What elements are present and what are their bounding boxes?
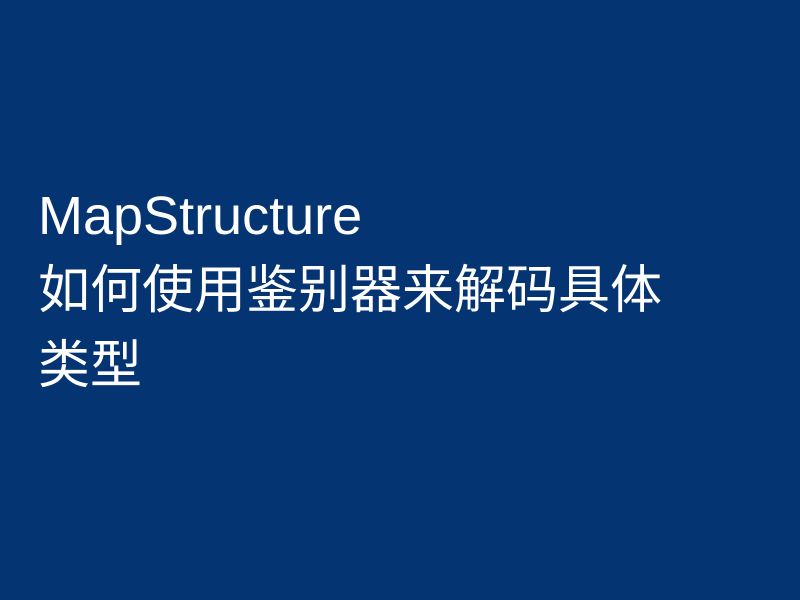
- page-title: MapStructure: [38, 179, 762, 254]
- cover-slide: MapStructure 如何使用鉴别器来解码具体 类型: [0, 0, 800, 600]
- page-subtitle-line-1: 如何使用鉴别器来解码具体: [38, 254, 762, 329]
- page-subtitle-line-2: 类型: [38, 329, 762, 404]
- title-block: MapStructure 如何使用鉴别器来解码具体 类型: [0, 179, 800, 404]
